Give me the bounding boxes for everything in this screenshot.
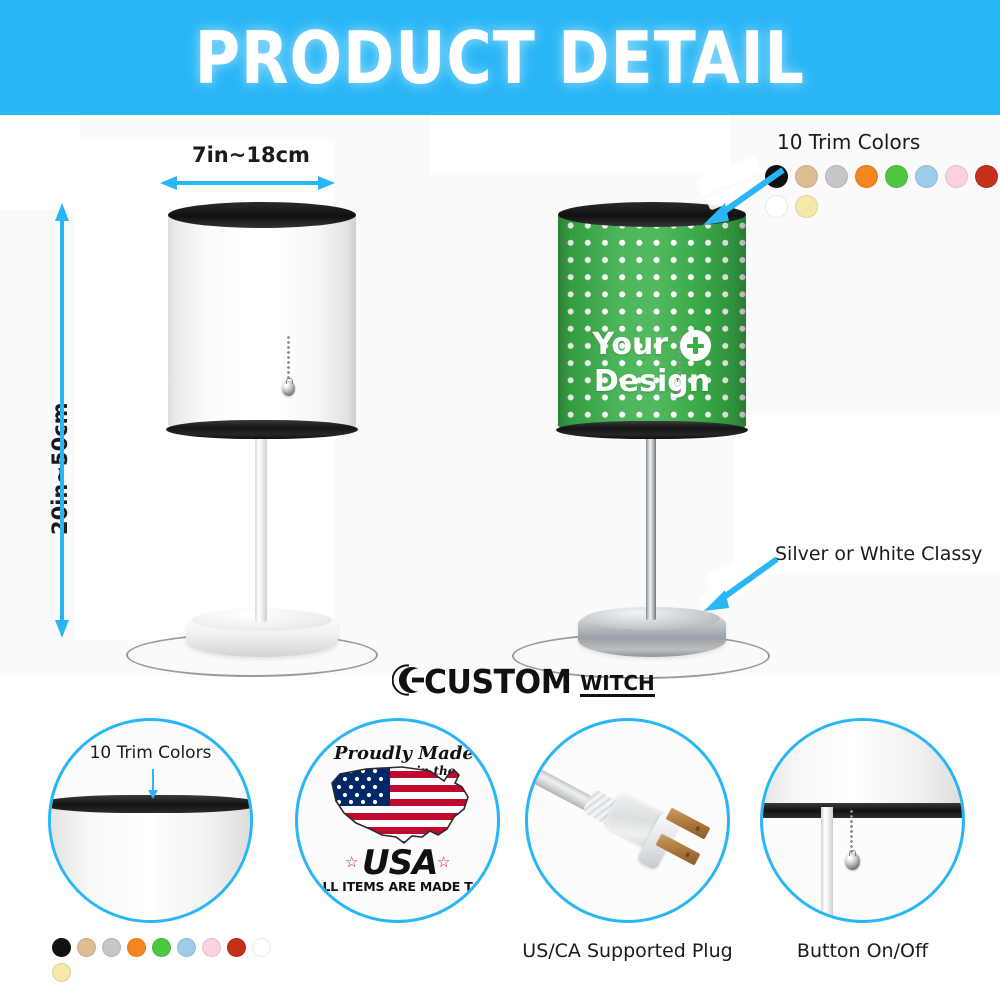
trim-swatch-pale-yellow[interactable]: [795, 195, 818, 218]
lamp-shade: Your Design: [558, 213, 746, 428]
trim-swatch-white[interactable]: [252, 938, 271, 957]
brand-logo: CUSTOM WITCH: [392, 663, 655, 697]
width-measurement-label: 7in~18cm: [192, 143, 310, 167]
detail-caption-plug: US/CA Supported Plug: [495, 940, 760, 962]
lamp-shade-bottom-trim: [166, 420, 358, 439]
lamp-shade-surface: [168, 213, 356, 428]
trim-swatch-tan[interactable]: [77, 938, 96, 957]
detail-circle-plug: [525, 718, 730, 923]
bottom-trim-closeup: [760, 803, 965, 819]
custom-design-artwork: Your Design: [558, 328, 746, 398]
lamp-white-classy: [150, 195, 400, 655]
detail-circle-button: [760, 718, 965, 923]
detail-circles-row: 10 Trim Colors Proudly Made in the: [0, 700, 1000, 1000]
trim-swatch-gray[interactable]: [825, 165, 848, 188]
trim-colors-swatch-grid-bottom[interactable]: [52, 938, 272, 982]
detail-trim-colors-inner-label: 10 Trim Colors: [51, 743, 250, 763]
star-icon: ☆: [345, 853, 358, 871]
trim-swatch-green[interactable]: [885, 165, 908, 188]
detail-caption-button: Button On/Off: [745, 940, 980, 962]
trim-swatch-brick-red[interactable]: [975, 165, 998, 188]
bg-patch: [430, 115, 730, 175]
trim-swatch-black[interactable]: [52, 938, 71, 957]
trim-colors-swatch-grid[interactable]: [765, 165, 1000, 218]
trim-swatch-pink[interactable]: [202, 938, 221, 957]
plug-prong-hole: [695, 826, 701, 832]
trim-swatch-orange[interactable]: [127, 938, 146, 957]
usa-tagline: ALL ITEMS ARE MADE TO ORDER!: [313, 879, 500, 894]
trim-swatch-brick-red[interactable]: [227, 938, 246, 957]
trim-swatch-light-blue[interactable]: [177, 938, 196, 957]
trim-swatch-tan[interactable]: [795, 165, 818, 188]
pull-chain: [287, 335, 290, 383]
height-arrow: [52, 203, 72, 638]
plus-icon: [680, 330, 711, 361]
plug-prong-hole: [685, 852, 691, 858]
trim-swatch-orange[interactable]: [855, 165, 878, 188]
pull-chain-ball[interactable]: [845, 853, 860, 870]
lamp-shade: [168, 213, 356, 428]
product-stage: 7in~18cm 20in~50cm: [0, 115, 1000, 675]
base-finish-label: Silver or White Classy: [775, 543, 982, 565]
trim-colors-down-arrow: [152, 769, 154, 791]
detail-circle-made-in-usa: Proudly Made in the: [295, 718, 500, 923]
design-line-1: Your: [558, 328, 746, 361]
shade-closeup: [48, 805, 253, 923]
trim-swatch-pink[interactable]: [945, 165, 968, 188]
trim-colors-top-label: 10 Trim Colors: [777, 130, 920, 154]
bg-patch: [0, 115, 80, 210]
usa-country-text: USA: [362, 843, 437, 883]
design-line-2: Design: [558, 365, 746, 398]
design-text-your: Your: [592, 327, 668, 362]
brand-suffix: WITCH: [580, 673, 655, 697]
detail-circle-trim-colors: 10 Trim Colors: [48, 718, 253, 923]
page-header-banner: PRODUCT DETAIL: [0, 0, 1000, 115]
trim-swatch-pale-yellow[interactable]: [52, 963, 71, 982]
trim-swatch-gray[interactable]: [102, 938, 121, 957]
pull-chain-ball: [282, 381, 295, 396]
trim-swatch-green[interactable]: [152, 938, 171, 957]
brand-c-icon: [392, 663, 426, 697]
trim-colors-pointer-arrow: [695, 163, 790, 233]
shade-closeup: [760, 718, 965, 809]
base-finish-pointer-arrow: [695, 553, 785, 618]
trim-swatch-light-blue[interactable]: [915, 165, 938, 188]
pull-chain: [850, 809, 853, 855]
star-icon: ☆: [437, 853, 450, 871]
width-arrow: [160, 173, 335, 193]
lamp-shade-bottom-trim: [556, 421, 748, 439]
brand-name: CUSTOM: [424, 667, 571, 697]
usa-flag-map-icon: [326, 757, 476, 853]
lamp-shade-top-trim: [168, 202, 356, 228]
lamp-pole-closeup: [821, 807, 833, 923]
page-title: PRODUCT DETAIL: [195, 16, 805, 100]
